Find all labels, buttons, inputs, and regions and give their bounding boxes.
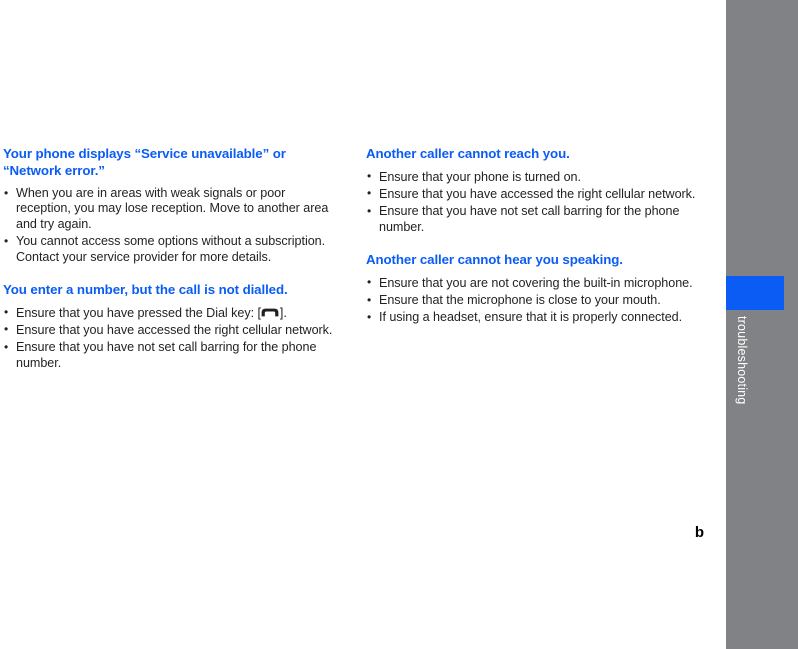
list-item: When you are in areas with weak signals … xyxy=(3,186,343,232)
list-item: If using a headset, ensure that it is pr… xyxy=(366,310,706,325)
list-item: Ensure that your phone is turned on. xyxy=(366,170,706,185)
content-column-left: Your phone displays “Service unavailable… xyxy=(3,146,343,373)
list-item: Ensure that you have pressed the Dial ke… xyxy=(3,306,343,321)
list-item-text-prefix: Ensure that you have pressed the Dial ke… xyxy=(16,306,261,320)
section-heading-caller-cannot-hear: Another caller cannot hear you speaking. xyxy=(366,252,706,269)
chapter-tab-marker xyxy=(726,276,784,310)
bullet-list-call-not-dialled: Ensure that you have pressed the Dial ke… xyxy=(3,306,343,372)
list-item: Ensure that you have accessed the right … xyxy=(366,187,706,202)
list-item: Ensure that you have not set call barrin… xyxy=(366,204,706,235)
bullet-list-service-unavailable: When you are in areas with weak signals … xyxy=(3,186,343,265)
bullet-list-caller-cannot-hear: Ensure that you are not covering the bui… xyxy=(366,276,706,326)
list-item-text-suffix: ]. xyxy=(280,306,287,320)
list-item: Ensure that you have not set call barrin… xyxy=(3,340,343,371)
list-item: Ensure that you are not covering the bui… xyxy=(366,276,706,291)
list-item: Ensure that you have accessed the right … xyxy=(3,323,343,338)
list-item: You cannot access some options without a… xyxy=(3,234,343,265)
chapter-tab-label: troubleshooting xyxy=(730,316,754,496)
section-heading-service-unavailable: Your phone displays “Service unavailable… xyxy=(3,146,343,179)
section-heading-call-not-dialled: You enter a number, but the call is not … xyxy=(3,282,343,299)
bullet-list-caller-cannot-reach: Ensure that your phone is turned on. Ens… xyxy=(366,170,706,236)
page-number: b xyxy=(672,524,704,541)
dial-key-icon xyxy=(261,308,279,317)
section-heading-caller-cannot-reach: Another caller cannot reach you. xyxy=(366,146,706,163)
content-column-right: Another caller cannot reach you. Ensure … xyxy=(366,146,706,328)
list-item: Ensure that the microphone is close to y… xyxy=(366,293,706,308)
manual-page: Your phone displays “Service unavailable… xyxy=(0,0,798,649)
chapter-tab-strip: troubleshooting xyxy=(726,0,798,649)
